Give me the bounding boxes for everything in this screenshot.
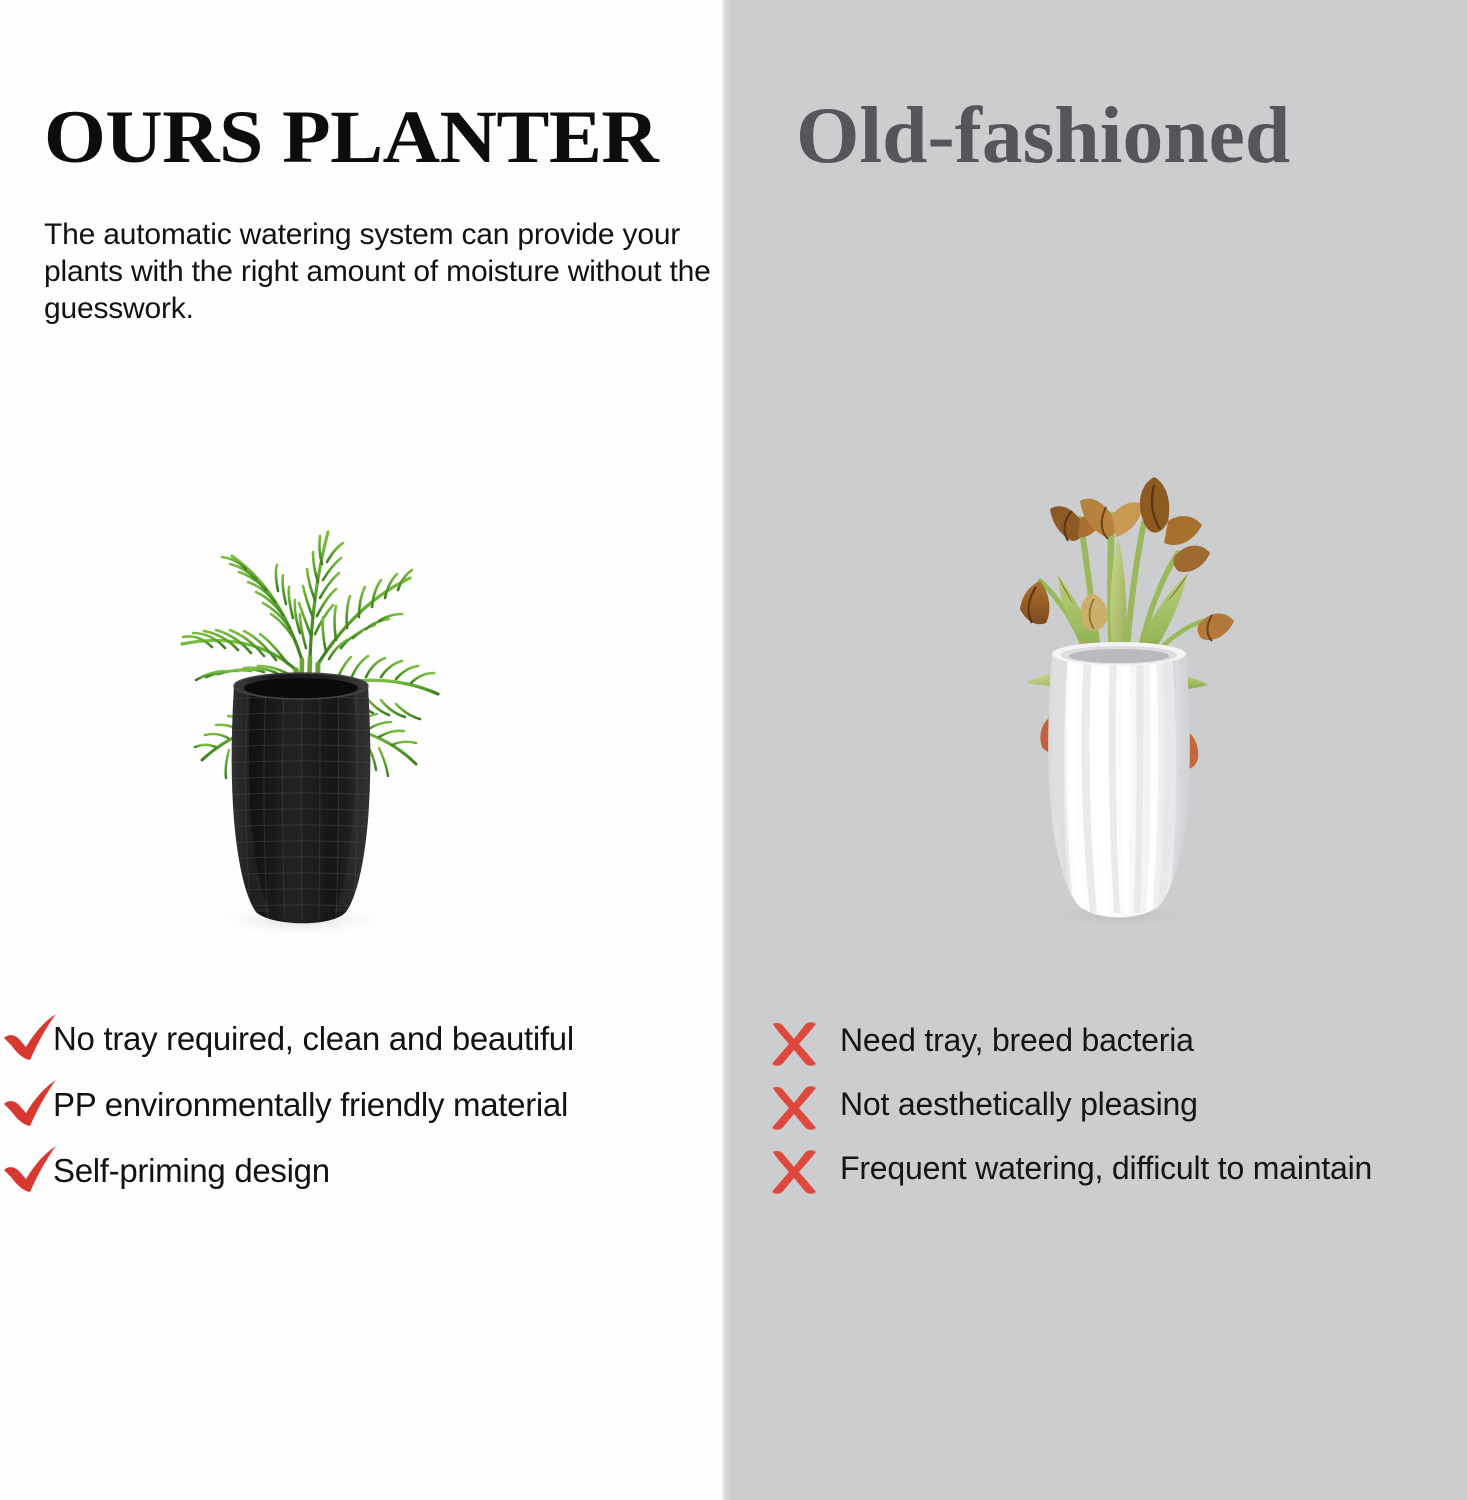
check-icon: [2, 1144, 60, 1200]
list-item: Need tray, breed bacteria: [768, 1020, 1408, 1068]
cross-icon: [768, 1148, 820, 1196]
check-icon: [2, 1012, 60, 1068]
list-item: Self-priming design: [0, 1150, 640, 1202]
list-item-label: Frequent watering, difficult to maintain: [768, 1148, 1408, 1189]
page-title-ours: OURS PLANTER: [44, 100, 658, 175]
panel-divider: [722, 0, 729, 1500]
black-planter: [220, 673, 382, 923]
list-item-label: Self-priming design: [0, 1150, 640, 1191]
list-item: No tray required, clean and beautiful: [0, 1018, 640, 1070]
list-item: PP environmentally friendly material: [0, 1084, 640, 1136]
white-fluted-vase: [1046, 642, 1192, 923]
list-item: Not aesthetically pleasing: [768, 1084, 1408, 1132]
page-title-old-fashioned: Old-fashioned: [796, 96, 1290, 176]
ours-description: The automatic watering system can provid…: [44, 216, 720, 327]
cross-icon: [768, 1020, 820, 1068]
list-item-label: Not aesthetically pleasing: [768, 1084, 1408, 1125]
list-item-label: Need tray, breed bacteria: [768, 1020, 1408, 1061]
benefits-list: No tray required, clean and beautiful PP…: [0, 1018, 640, 1216]
drawbacks-list: Need tray, breed bacteria Not aesthetica…: [768, 1020, 1408, 1212]
ours-planter-image: [120, 420, 480, 940]
cross-icon: [768, 1084, 820, 1132]
list-item-label: PP environmentally friendly material: [0, 1084, 640, 1125]
comparison-infographic: OURS PLANTER Old-fashioned The automatic…: [0, 0, 1467, 1500]
list-item-label: No tray required, clean and beautiful: [0, 1018, 640, 1059]
list-item: Frequent watering, difficult to maintain: [768, 1148, 1408, 1196]
old-fashioned-vase-image: [940, 415, 1290, 935]
check-icon: [2, 1078, 60, 1134]
